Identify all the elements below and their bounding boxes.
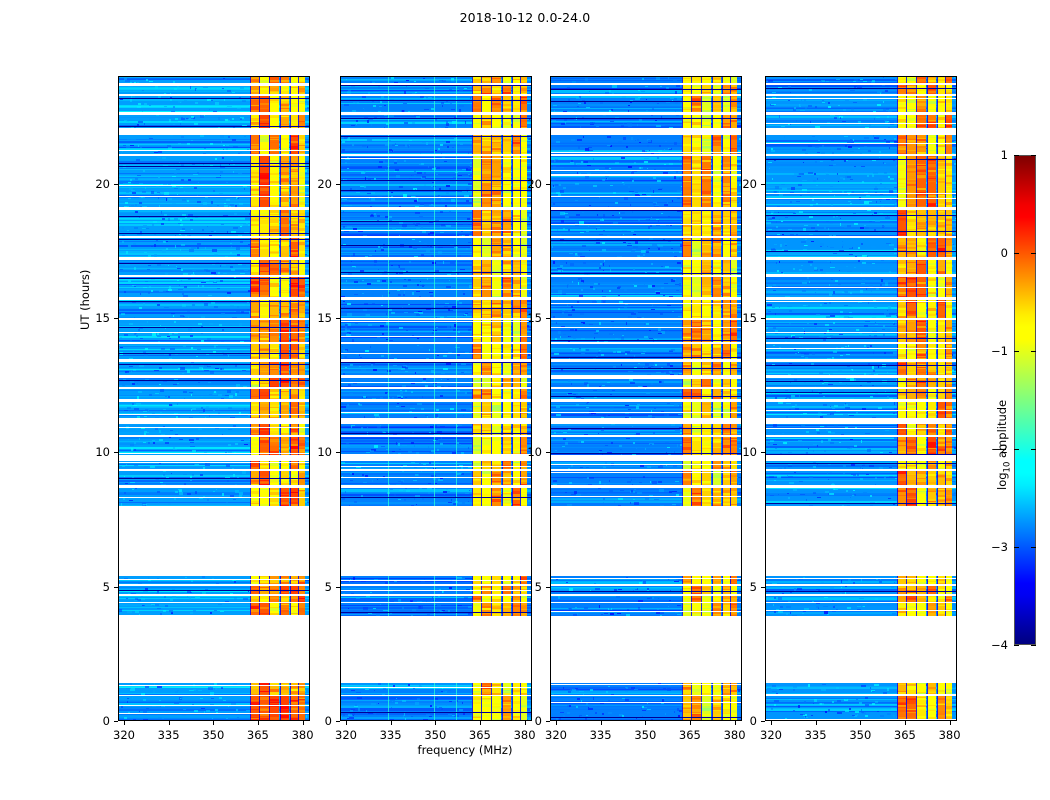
- rfi-band-segment: [502, 402, 511, 418]
- scan-band: [119, 320, 309, 342]
- scan-band: [766, 96, 956, 112]
- x-axis-tick: [391, 721, 392, 725]
- scan-band: [766, 389, 956, 399]
- subband-edge: [388, 277, 389, 297]
- spectrum-image-xy: [551, 77, 741, 720]
- rfi-band-segment: [945, 135, 951, 154]
- subband-edge: [456, 402, 457, 418]
- flagged-row: [341, 245, 531, 246]
- rfi-band-segment: [259, 389, 268, 399]
- subband-edge: [456, 362, 457, 375]
- rfi-band-segment: [722, 156, 730, 207]
- rfi-band-segment: [937, 135, 945, 154]
- rfi-band-segment: [722, 402, 730, 418]
- scan-band: [766, 378, 956, 387]
- subband-edge: [434, 437, 435, 454]
- rfi-band-segment: [259, 437, 268, 454]
- rfi-band-segment: [512, 683, 520, 695]
- scan-band: [341, 277, 531, 297]
- colorbar-tick: [1014, 155, 1019, 156]
- rfi-band-segment: [512, 344, 520, 359]
- rfi-band-segment: [269, 156, 279, 207]
- rfi-band-segment: [701, 96, 711, 112]
- rfi-band-segment: [259, 402, 268, 418]
- flagged-row: [551, 464, 741, 465]
- flagged-row: [119, 85, 309, 86]
- x-axis-tick: [860, 721, 861, 725]
- rfi-band-segment: [906, 156, 915, 207]
- rfi-band-segment: [269, 210, 279, 236]
- flagged-row: [551, 224, 741, 225]
- rfi-band-segment: [280, 277, 289, 297]
- rfi-band-segment: [280, 596, 289, 602]
- rfi-band-segment: [280, 437, 289, 454]
- flagged-row: [341, 362, 531, 363]
- scan-band: [551, 402, 741, 418]
- subband-edge: [434, 156, 435, 207]
- scan-band: [341, 210, 531, 236]
- rfi-band-segment: [502, 683, 511, 695]
- subband-edge: [434, 596, 435, 602]
- rfi-band-segment: [691, 115, 700, 128]
- rfi-band-segment: [730, 596, 736, 602]
- rfi-band-segment: [481, 437, 490, 454]
- rfi-band-segment: [682, 320, 690, 342]
- scan-band: [119, 586, 309, 594]
- scan-band: [766, 77, 956, 83]
- rfi-band-segment: [269, 300, 279, 317]
- rfi-band-segment: [512, 96, 520, 112]
- rfi-band-segment: [491, 596, 501, 602]
- rfi-band-segment: [259, 696, 268, 720]
- subband-edge: [456, 210, 457, 236]
- flagged-row: [551, 412, 741, 413]
- rfi-band-segment: [701, 603, 711, 616]
- flagged-row: [341, 136, 531, 137]
- x-axis-tick: [213, 721, 214, 725]
- flagged-row: [341, 477, 531, 478]
- flagged-row: [119, 233, 309, 234]
- rfi-band-segment: [937, 260, 945, 275]
- rfi-band-segment: [906, 389, 915, 399]
- y-axis-tick: [761, 721, 765, 722]
- rfi-band-segment: [897, 238, 905, 257]
- flagged-row: [551, 240, 741, 241]
- flagged-row: [766, 301, 956, 302]
- subband-edge: [388, 696, 389, 720]
- scan-band: [341, 596, 531, 602]
- rfi-band-segment: [290, 238, 298, 257]
- rfi-band-segment: [520, 471, 526, 486]
- flagged-row: [551, 453, 741, 454]
- scan-band: [551, 210, 741, 236]
- rfi-band-segment: [290, 437, 298, 454]
- dynamic-spectrum-panel-yx[interactable]: YX, V6*V14=EA09*EA02: [765, 76, 957, 721]
- rfi-band-segment: [290, 156, 298, 207]
- rfi-band-segment: [897, 696, 905, 720]
- flagged-row: [766, 410, 956, 411]
- rfi-band-segment: [945, 238, 951, 257]
- flagged-row: [551, 378, 741, 379]
- rfi-band-segment: [927, 437, 936, 454]
- rfi-band-segment: [481, 277, 490, 297]
- rfi-band-segment: [897, 260, 905, 275]
- rfi-band-segment: [682, 238, 690, 257]
- flagged-row: [119, 705, 309, 706]
- scan-band: [119, 300, 309, 317]
- rfi-band-segment: [250, 277, 258, 297]
- rfi-band-segment: [502, 362, 511, 375]
- flagged-row: [766, 193, 956, 194]
- scan-band: [766, 461, 956, 469]
- subband-edge: [434, 344, 435, 359]
- rfi-band-segment: [906, 260, 915, 275]
- flagged-row: [341, 100, 531, 101]
- rfi-band-segment: [906, 471, 915, 486]
- rfi-band-segment: [906, 300, 915, 317]
- scan-band: [119, 576, 309, 584]
- flagged-row: [341, 399, 531, 400]
- subband-edge: [456, 683, 457, 695]
- rfi-band-segment: [691, 389, 700, 399]
- scan-band: [119, 488, 309, 506]
- rfi-band-segment: [481, 96, 490, 112]
- flagged-row: [119, 301, 309, 302]
- y-axis-tick: [546, 721, 550, 722]
- subband-edge: [456, 238, 457, 257]
- rfi-band-segment: [691, 156, 700, 207]
- y-axis-tick-label: 15: [516, 311, 542, 325]
- y-axis-tick: [761, 587, 765, 588]
- figure-canvas: 2018-10-12 0.0-24.0 XX, V6*V14=EA09*EA02…: [0, 0, 1050, 800]
- subband-edge: [388, 344, 389, 359]
- rfi-band-segment: [682, 603, 690, 616]
- x-axis-tick: [771, 721, 772, 725]
- rfi-band-segment: [512, 135, 520, 154]
- rfi-band-segment: [269, 696, 279, 720]
- rfi-band-segment: [682, 424, 690, 435]
- scan-band: [551, 85, 741, 94]
- rfi-band-segment: [927, 378, 936, 387]
- rfi-band-segment: [945, 471, 951, 486]
- rfi-band-segment: [730, 424, 736, 435]
- scan-band: [551, 586, 741, 594]
- rfi-band-segment: [512, 238, 520, 257]
- rfi-band-segment: [502, 277, 511, 297]
- flagged-row: [341, 85, 531, 86]
- rfi-band-segment: [916, 596, 926, 602]
- flagged-row: [766, 381, 956, 382]
- subband-edge: [434, 696, 435, 720]
- rfi-band-segment: [290, 210, 298, 236]
- y-axis-tick: [336, 318, 340, 319]
- rfi-band-segment: [472, 696, 480, 720]
- rfi-band-segment: [712, 77, 721, 83]
- rfi-band-segment: [520, 603, 526, 616]
- rfi-band-segment: [472, 238, 480, 257]
- rfi-band-segment: [481, 603, 490, 616]
- rfi-band-segment: [691, 378, 700, 387]
- flagged-row: [551, 357, 741, 358]
- rfi-band-segment: [298, 402, 304, 418]
- x-axis-tick: [480, 721, 481, 725]
- rfi-band-segment: [512, 471, 520, 486]
- y-axis-tick: [114, 587, 118, 588]
- scan-band: [766, 362, 956, 375]
- flagged-row: [119, 453, 309, 454]
- x-axis-tick-label: 335: [581, 728, 621, 742]
- rfi-band-segment: [722, 389, 730, 399]
- rfi-band-segment: [897, 135, 905, 154]
- rfi-band-segment: [472, 156, 480, 207]
- rfi-band-segment: [722, 238, 730, 257]
- scan-band: [341, 238, 531, 257]
- rfi-band-segment: [712, 320, 721, 342]
- y-axis-tick: [761, 452, 765, 453]
- rfi-band-segment: [481, 402, 490, 418]
- rfi-band-segment: [897, 437, 905, 454]
- rfi-band-segment: [491, 115, 501, 128]
- flagged-row: [766, 338, 956, 339]
- rfi-band-segment: [259, 210, 268, 236]
- subband-edge: [388, 362, 389, 375]
- rfi-band-segment: [945, 424, 951, 435]
- rfi-band-segment: [916, 683, 926, 695]
- rfi-band-segment: [712, 277, 721, 297]
- rfi-band-segment: [906, 135, 915, 154]
- rfi-band-segment: [269, 320, 279, 342]
- rfi-band-segment: [250, 389, 258, 399]
- x-axis-tick-label: 350: [415, 728, 455, 742]
- flagged-row: [119, 414, 309, 415]
- rfi-band-segment: [298, 277, 304, 297]
- scan-band: [341, 389, 531, 399]
- rfi-band-segment: [906, 586, 915, 594]
- flagged-row: [766, 454, 956, 455]
- rfi-band-segment: [502, 115, 511, 128]
- flagged-row: [766, 332, 956, 333]
- dynamic-spectrum-panel-yy[interactable]: YY, V6*V14=EA09*EA02: [340, 76, 532, 721]
- rfi-band-segment: [502, 471, 511, 486]
- rfi-band-segment: [691, 320, 700, 342]
- rfi-band-segment: [712, 603, 721, 616]
- flagged-row: [766, 198, 956, 199]
- rfi-band-segment: [916, 77, 926, 83]
- rfi-band-segment: [250, 77, 258, 83]
- rfi-band-segment: [927, 344, 936, 359]
- scan-band: [341, 696, 531, 720]
- rfi-band-segment: [916, 696, 926, 720]
- rfi-band-segment: [472, 320, 480, 342]
- y-axis-tick: [114, 721, 118, 722]
- scan-band: [119, 85, 309, 94]
- flagged-row: [119, 163, 309, 164]
- y-axis-tick-label: 20: [516, 177, 542, 191]
- scan-band: [551, 424, 741, 435]
- scan-band: [119, 156, 309, 207]
- rfi-band-segment: [269, 596, 279, 602]
- flagged-row: [551, 152, 741, 153]
- flagged-row: [341, 712, 531, 713]
- flagged-row: [341, 118, 531, 119]
- rfi-band-segment: [712, 115, 721, 128]
- rfi-band-segment: [491, 362, 501, 375]
- rfi-band-segment: [481, 696, 490, 720]
- scan-band: [341, 156, 531, 207]
- y-axis-tick-label: 15: [306, 311, 332, 325]
- x-axis-tick-label: 350: [625, 728, 665, 742]
- subband-edge: [388, 683, 389, 695]
- rfi-band-segment: [520, 77, 526, 83]
- x-axis-tick: [816, 721, 817, 725]
- scan-band: [551, 96, 741, 112]
- flagged-row: [341, 190, 531, 191]
- scan-band: [766, 586, 956, 594]
- rfi-band-segment: [897, 683, 905, 695]
- flagged-row: [119, 216, 309, 217]
- rfi-band-segment: [259, 576, 268, 584]
- dynamic-spectrum-panel-xy[interactable]: XY, V6*V14=EA09*EA02: [550, 76, 742, 721]
- rfi-band-segment: [722, 596, 730, 602]
- rfi-band-segment: [682, 389, 690, 399]
- scan-band: [551, 344, 741, 359]
- rfi-band-segment: [269, 424, 279, 435]
- flagged-row: [119, 185, 309, 186]
- x-axis-tick-label: 320: [326, 728, 366, 742]
- rfi-band-segment: [512, 210, 520, 236]
- x-axis-tick: [258, 721, 259, 725]
- rfi-band-segment: [290, 402, 298, 418]
- subband-edge: [388, 135, 389, 154]
- flagged-row: [551, 89, 741, 90]
- flagged-row: [119, 263, 309, 264]
- rfi-band-segment: [937, 300, 945, 317]
- subband-edge: [388, 402, 389, 418]
- rfi-band-segment: [916, 156, 926, 207]
- scan-band: [766, 596, 956, 602]
- y-axis-tick: [546, 587, 550, 588]
- rfi-band-segment: [520, 96, 526, 112]
- rfi-band-segment: [927, 260, 936, 275]
- colorbar-tick: [1014, 547, 1019, 548]
- subband-edge: [456, 156, 457, 207]
- flagged-row: [341, 158, 531, 159]
- scan-band: [119, 683, 309, 695]
- flagged-row: [766, 215, 956, 216]
- rfi-band-segment: [472, 362, 480, 375]
- scan-band: [119, 77, 309, 83]
- rfi-band-segment: [269, 277, 279, 297]
- subband-edge: [434, 210, 435, 236]
- x-axis-label: frequency (MHz): [0, 743, 930, 757]
- flagged-row: [119, 590, 309, 591]
- subband-edge: [456, 596, 457, 602]
- flagged-row: [341, 687, 531, 688]
- rfi-band-segment: [472, 596, 480, 602]
- rfi-band-segment: [491, 210, 501, 236]
- rfi-band-segment: [491, 156, 501, 207]
- rfi-band-segment: [712, 210, 721, 236]
- rfi-band-segment: [927, 238, 936, 257]
- rfi-band-segment: [897, 77, 905, 83]
- x-axis-tick: [950, 721, 951, 725]
- rfi-band-segment: [937, 437, 945, 454]
- x-axis-tick: [169, 721, 170, 725]
- x-axis-tick-label: 380: [930, 728, 970, 742]
- x-axis-tick-label: 350: [193, 728, 233, 742]
- scan-band: [341, 378, 531, 387]
- flagged-row: [766, 392, 956, 393]
- rfi-band-segment: [927, 471, 936, 486]
- dynamic-spectrum-panel-xx[interactable]: XX, V6*V14=EA09*EA02: [118, 76, 310, 721]
- rfi-band-segment: [502, 320, 511, 342]
- flagged-row: [766, 123, 956, 124]
- flagged-row: [551, 702, 741, 703]
- x-axis-tick: [435, 721, 436, 725]
- flagged-row: [766, 231, 956, 232]
- rfi-band-segment: [916, 378, 926, 387]
- x-axis-tick: [645, 721, 646, 725]
- rfi-band-segment: [298, 210, 304, 236]
- rfi-band-segment: [290, 596, 298, 602]
- flagged-row: [341, 197, 531, 198]
- scan-band: [551, 238, 741, 257]
- rfi-band-segment: [250, 238, 258, 257]
- scan-band: [119, 437, 309, 454]
- rfi-band-segment: [712, 402, 721, 418]
- subband-edge: [434, 77, 435, 83]
- rfi-band-segment: [512, 603, 520, 616]
- rfi-band-segment: [280, 576, 289, 584]
- x-axis-tick-label: 335: [796, 728, 836, 742]
- rfi-band-segment: [730, 277, 736, 297]
- rfi-band-segment: [250, 576, 258, 584]
- scan-band: [551, 362, 741, 375]
- rfi-band-segment: [472, 683, 480, 695]
- colorbar[interactable]: [1014, 155, 1036, 645]
- scan-band: [551, 683, 741, 695]
- rfi-band-segment: [682, 378, 690, 387]
- subband-edge: [434, 96, 435, 112]
- flagged-row: [766, 503, 956, 504]
- rfi-band-segment: [722, 210, 730, 236]
- y-axis-tick-label: 5: [84, 580, 110, 594]
- rfi-band-segment: [916, 344, 926, 359]
- flagged-row: [119, 380, 309, 381]
- rfi-band-segment: [691, 596, 700, 602]
- scan-band: [551, 696, 741, 720]
- rfi-band-segment: [290, 277, 298, 297]
- scan-band: [766, 344, 956, 359]
- scan-band: [766, 210, 956, 236]
- rfi-band-segment: [937, 156, 945, 207]
- subband-edge: [456, 115, 457, 128]
- rfi-band-segment: [682, 402, 690, 418]
- scan-band: [341, 344, 531, 359]
- subband-edge: [456, 344, 457, 359]
- rfi-band-segment: [945, 437, 951, 454]
- rfi-band-segment: [250, 156, 258, 207]
- rfi-band-segment: [916, 135, 926, 154]
- scan-band: [119, 362, 309, 375]
- x-axis-tick-label: 380: [283, 728, 323, 742]
- y-axis-tick-label: 15: [84, 311, 110, 325]
- rfi-band-segment: [906, 696, 915, 720]
- rfi-band-segment: [250, 320, 258, 342]
- rfi-band-segment: [691, 402, 700, 418]
- subband-edge: [434, 471, 435, 486]
- rfi-band-segment: [290, 389, 298, 399]
